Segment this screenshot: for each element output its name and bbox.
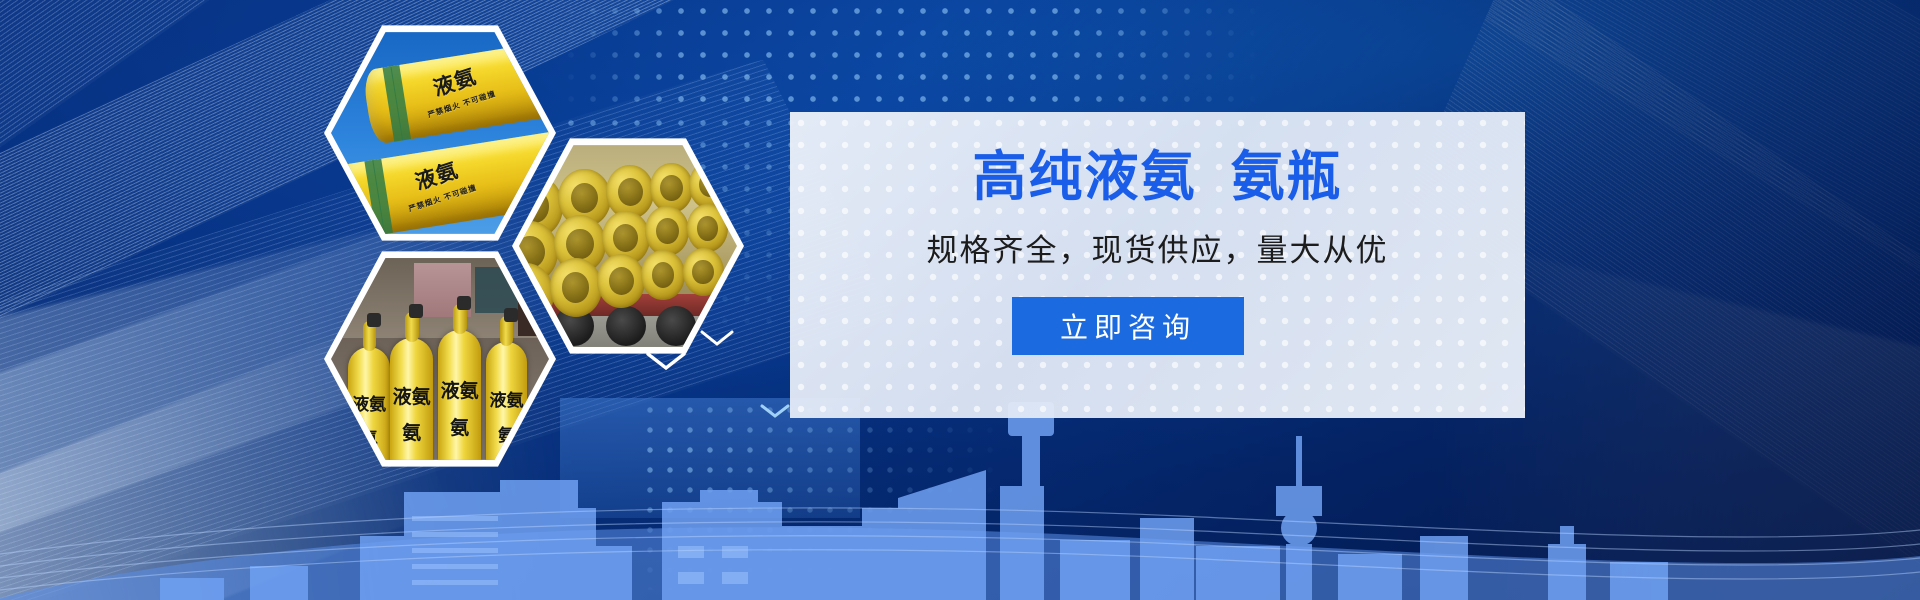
cylinder-label: 液氨 bbox=[390, 382, 434, 409]
halftone-dot-pattern-top bbox=[560, 0, 1260, 118]
photo-truck-cylinders bbox=[519, 142, 737, 350]
cylinder-label: 液氨 bbox=[348, 390, 389, 415]
photo-ammonia-tanks: 液氨 严禁烟火 不可碰撞 液氨 严禁烟火 不可碰撞 bbox=[331, 29, 549, 237]
content-panel: 高纯液氨 氨瓶 规格齐全，现货供应，量大从优 立即咨询 bbox=[790, 112, 1525, 418]
photo-upright-cylinders: 液氨 氨 液氨 氨 液氨 氨 液氨 氨 bbox=[331, 255, 549, 463]
cylinder-label: 液氨 bbox=[438, 376, 482, 403]
page-title: 高纯液氨 氨瓶 bbox=[790, 150, 1525, 204]
banner-root: 液氨 严禁烟火 不可碰撞 液氨 严禁烟火 不可碰撞 bbox=[0, 0, 1920, 600]
consult-now-button[interactable]: 立即咨询 bbox=[1012, 297, 1244, 355]
page-subtitle: 规格齐全，现货供应，量大从优 bbox=[790, 235, 1525, 266]
cylinder-label: 液氨 bbox=[486, 386, 527, 411]
